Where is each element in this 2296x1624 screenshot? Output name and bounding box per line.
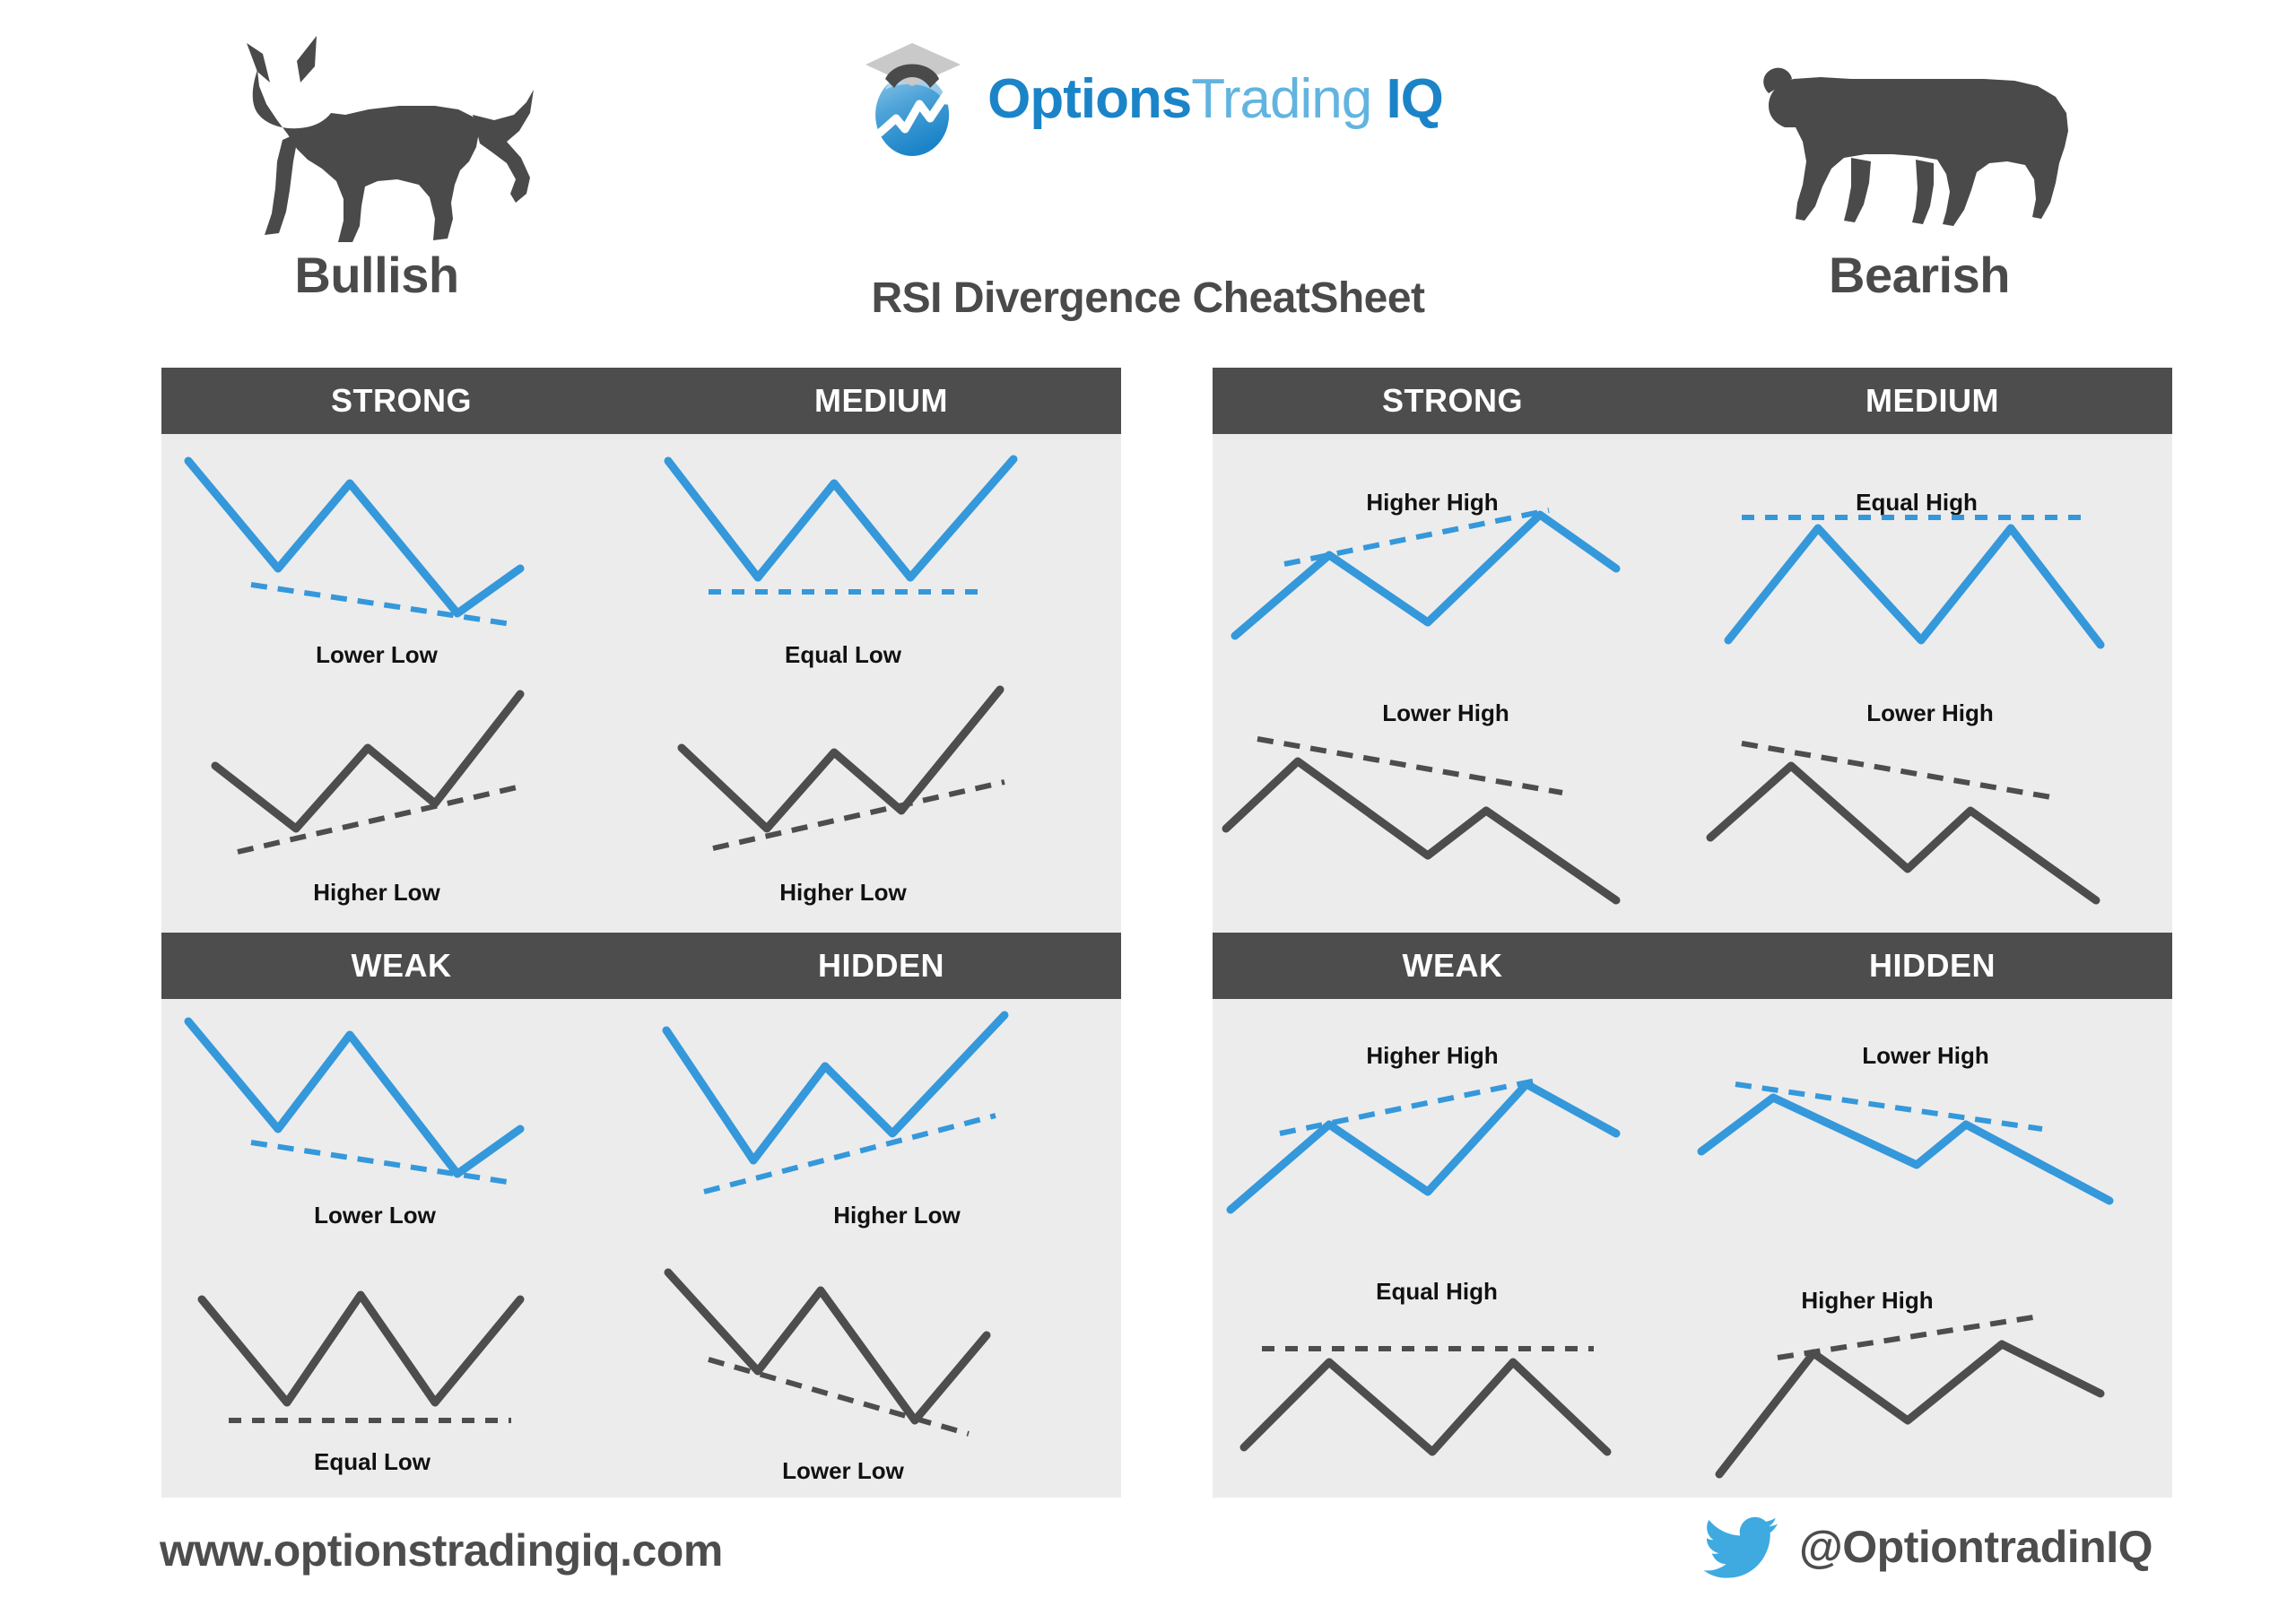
bullish-weak-header: WEAK [161,947,641,985]
bullish-strong-price-chart [188,461,520,624]
bearish-weak-price-label: Higher High [1366,1042,1498,1069]
bearish-strong-rsi-label: Lower High [1382,699,1509,726]
bearish-strong-header: STRONG [1213,382,1692,420]
bearish-strong-price-label: Higher High [1366,489,1498,516]
bullish-strong-header: STRONG [161,382,641,420]
twitter-group[interactable]: @OptiontradinIQ [1704,1515,2152,1578]
rsi-line [215,694,520,829]
bullish-row2-body: Lower Low Equal Low Higher Low [161,999,1121,1498]
bullish-hidden-cell: Higher Low Lower Low [641,999,1121,1498]
bearish-medium-rsi-label: Lower High [1866,699,1994,726]
bearish-strong-rsi-chart [1226,739,1616,900]
bullish-medium-rsi-label: Higher Low [779,879,907,906]
brand-wordmark: OptionsTrading IQ [987,67,1443,131]
bearish-medium-rsi-chart [1710,743,2096,900]
twitter-bird-icon[interactable] [1704,1515,1779,1578]
bullish-weak-price-chart [188,1021,520,1183]
bullish-strong-price-label: Lower Low [316,641,439,668]
price-trendline [1735,1084,2042,1129]
bearish-panel: STRONG MEDIUM Higher High Lower High [1213,368,2172,1498]
rsi-line [1226,761,1616,900]
bearish-medium-price-chart [1728,517,2100,645]
bearish-weak-cell: Higher High Equal High [1213,999,1692,1498]
bearish-medium-header: MEDIUM [1692,382,2172,420]
rsi-line [682,690,1000,829]
price-line [1728,528,2100,645]
bearish-weak-rsi-chart [1244,1349,1607,1452]
bearish-strong-price-chart [1235,510,1616,636]
twitter-handle[interactable]: @OptiontradinIQ [1799,1521,2152,1573]
bullish-hidden-price-label: Higher Low [833,1202,961,1229]
price-line [666,1015,1004,1160]
bearish-row2-body: Higher High Equal High Lower High [1213,999,2172,1498]
cheatsheet-page: Bullish [0,0,2296,1624]
price-trendline [1284,510,1549,564]
bearish-hidden-rsi-chart [1719,1317,2100,1474]
brand-logo: OptionsTrading IQ [853,36,1443,161]
brand-name-trading: Trading [1191,68,1371,130]
bullish-medium-rsi-chart [682,690,1004,848]
bearish-row1-band: STRONG MEDIUM [1213,368,2172,434]
bearish-hidden-header: HIDDEN [1692,947,2172,985]
website-url[interactable]: www.optionstradingiq.com [160,1524,723,1576]
bullish-header-group: Bullish [143,27,610,332]
bullish-row1-body: Lower Low Higher Low Equal Low [161,434,1121,933]
bullish-medium-cell: Equal Low Higher Low [641,434,1121,933]
bearish-weak-rsi-label: Equal High [1376,1278,1498,1305]
bearish-hidden-price-label: Lower High [1862,1042,1989,1069]
page-title: RSI Divergence CheatSheet [871,274,1424,323]
brand-name-options: Options [987,68,1191,130]
bullish-medium-header: MEDIUM [641,382,1121,420]
brand-name-iq: IQ [1386,68,1442,130]
bullish-strong-rsi-label: Higher Low [313,879,440,906]
bearish-hidden-cell: Lower High Higher High [1692,999,2172,1498]
price-line [188,1021,520,1174]
bearish-row1-body: Higher High Lower High Equal High [1213,434,2172,933]
bearish-header-group: Bearish [1686,27,2152,332]
rsi-line [1710,766,2096,900]
bullish-medium-price-chart [668,459,1013,592]
bearish-medium-price-label: Equal High [1856,489,1978,516]
bearish-row2-band: WEAK HIDDEN [1213,933,2172,999]
bearish-label: Bearish [1686,246,2152,304]
rsi-line [1244,1362,1607,1452]
bullish-row2-band: WEAK HIDDEN [161,933,1121,999]
bearish-strong-cell: Higher High Lower High [1213,434,1692,933]
bullish-hidden-header: HIDDEN [641,947,1121,985]
bearish-medium-cell: Equal High Lower High [1692,434,2172,933]
price-line [188,461,520,613]
bullish-row1-band: STRONG MEDIUM [161,368,1121,434]
bullish-hidden-rsi-label: Lower Low [782,1457,905,1484]
bearish-hidden-rsi-label: Higher High [1801,1287,1933,1314]
bullish-weak-cell: Lower Low Equal Low [161,999,641,1498]
bearish-weak-header: WEAK [1213,947,1692,985]
bullish-label: Bullish [143,246,610,304]
bull-silhouette-icon [211,27,543,251]
price-line [668,459,1013,578]
header: Bullish [0,0,2296,359]
bear-silhouette-icon [1758,27,2081,251]
bullish-strong-rsi-chart [215,694,525,852]
bullish-hidden-price-chart [666,1015,1004,1192]
bullish-medium-price-label: Equal Low [785,641,902,668]
rsi-line [1719,1344,2100,1474]
bullish-panel: STRONG MEDIUM Lower Low Higher Low [161,368,1121,1498]
rsi-line [202,1295,520,1403]
rsi-line [668,1272,987,1420]
bullish-hidden-rsi-chart [668,1272,987,1434]
bullish-weak-rsi-chart [202,1295,520,1420]
globe-graduation-cap-icon [853,36,970,161]
bullish-weak-rsi-label: Equal Low [314,1448,431,1475]
bullish-weak-price-label: Lower Low [314,1202,437,1229]
bullish-strong-cell: Lower Low Higher Low [161,434,641,933]
bearish-hidden-price-chart [1701,1084,2109,1201]
bearish-weak-price-chart [1231,1080,1616,1210]
price-line [1701,1098,2109,1201]
